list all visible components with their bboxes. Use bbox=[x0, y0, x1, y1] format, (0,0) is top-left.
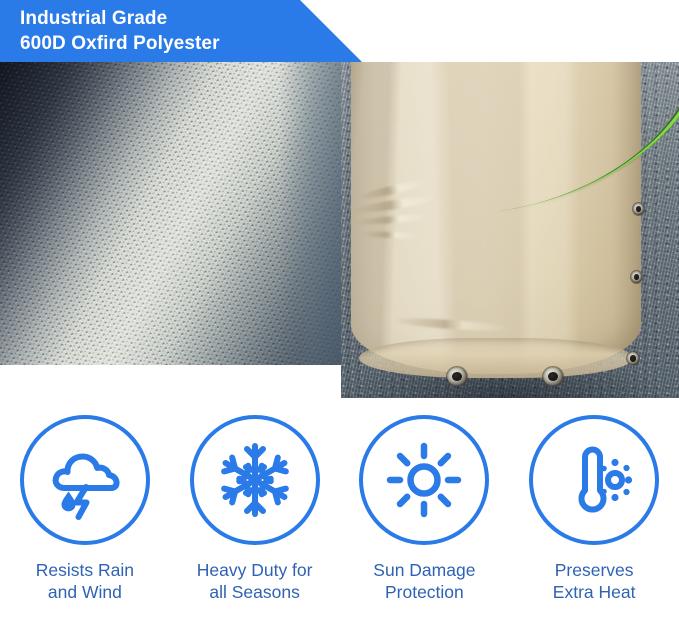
product-infographic: Industrial Grade 600D Oxfird Polyester R… bbox=[0, 0, 679, 626]
tank-cover-photo bbox=[341, 62, 679, 398]
feature-sun-damage-protection: Sun Damage Protection bbox=[340, 415, 510, 626]
banner-line-2: 600D Oxfird Polyester bbox=[20, 31, 362, 56]
grommet bbox=[543, 367, 563, 386]
banner-line-1: Industrial Grade bbox=[20, 6, 362, 31]
snowflake-icon bbox=[213, 438, 297, 522]
cover-bottom-hem bbox=[359, 338, 633, 378]
feature-resists-rain-and-wind: Resists Rain and Wind bbox=[0, 415, 170, 626]
feature-badge-circle bbox=[529, 415, 659, 545]
grommet bbox=[633, 203, 644, 215]
feature-heavy-duty-all-seasons: Heavy Duty for all Seasons bbox=[170, 415, 340, 626]
feature-badge-circle bbox=[359, 415, 489, 545]
fabric-edge-shadow bbox=[279, 62, 341, 365]
insulation-fabric-photo bbox=[0, 62, 341, 365]
feature-caption: Preserves Extra Heat bbox=[553, 559, 636, 603]
photo-strip: Industrial Grade 600D Oxfird Polyester bbox=[0, 0, 679, 400]
grommet bbox=[631, 271, 642, 283]
feature-preserves-extra-heat: Preserves Extra Heat bbox=[509, 415, 679, 626]
cloud-rain-lightning-icon bbox=[43, 438, 127, 522]
feature-row: Resists Rain and Wind bbox=[0, 415, 679, 626]
grommet bbox=[627, 352, 639, 365]
feature-badge-circle bbox=[20, 415, 150, 545]
feature-caption: Resists Rain and Wind bbox=[36, 559, 134, 603]
grommet bbox=[447, 367, 467, 386]
feature-badge-circle bbox=[190, 415, 320, 545]
raindrop-shape bbox=[61, 492, 75, 512]
material-banner: Industrial Grade 600D Oxfird Polyester bbox=[0, 0, 362, 62]
feature-caption: Sun Damage Protection bbox=[373, 559, 475, 603]
thermometer-sun-icon bbox=[552, 438, 636, 522]
feature-caption: Heavy Duty for all Seasons bbox=[197, 559, 313, 603]
sun-icon bbox=[382, 438, 466, 522]
